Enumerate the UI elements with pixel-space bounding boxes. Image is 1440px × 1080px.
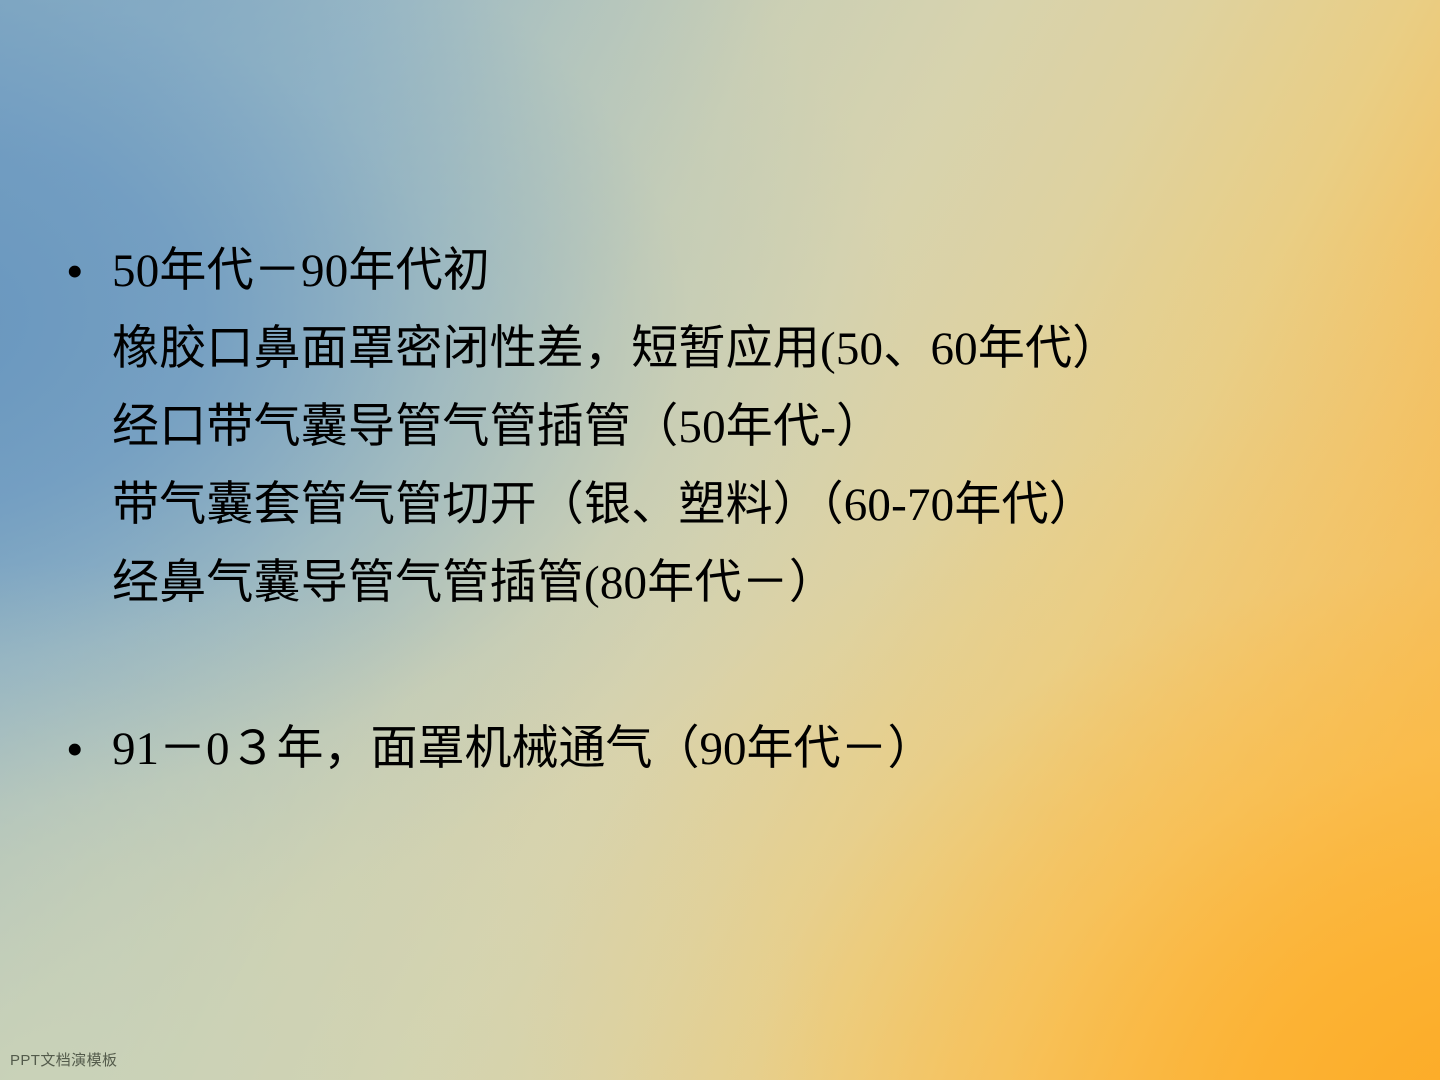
- bullet-marker-icon: •: [60, 710, 112, 788]
- bullet-1-line-1: 50年代－90年代初: [112, 232, 1380, 310]
- bullet-item-1: • 50年代－90年代初 橡胶口鼻面罩密闭性差，短暂应用(50、60年代） 经口…: [60, 232, 1380, 622]
- bullet-1-line-4: 带气囊套管气管切开（银、塑料）（60-70年代）: [112, 466, 1380, 544]
- bullet-item-2: • 91－0３年，面罩机械通气（90年代－）: [60, 710, 1380, 788]
- bullet-item-2-lines: 91－0３年，面罩机械通气（90年代－）: [112, 710, 1380, 788]
- slide-footer-label: PPT文档演模板: [10, 1051, 117, 1071]
- presentation-slide: • 50年代－90年代初 橡胶口鼻面罩密闭性差，短暂应用(50、60年代） 经口…: [0, 0, 1440, 1080]
- bullet-item-1-lines: 50年代－90年代初 橡胶口鼻面罩密闭性差，短暂应用(50、60年代） 经口带气…: [112, 232, 1380, 622]
- bullet-2-line-1: 91－0３年，面罩机械通气（90年代－）: [112, 710, 1380, 788]
- bullet-1-line-5: 经鼻气囊导管气管插管(80年代－）: [112, 544, 1380, 622]
- bullet-1-line-2: 橡胶口鼻面罩密闭性差，短暂应用(50、60年代）: [112, 310, 1380, 388]
- bullet-marker-icon: •: [60, 232, 112, 310]
- slide-body: • 50年代－90年代初 橡胶口鼻面罩密闭性差，短暂应用(50、60年代） 经口…: [60, 232, 1380, 788]
- bullet-1-line-3: 经口带气囊导管气管插管（50年代-）: [112, 388, 1380, 466]
